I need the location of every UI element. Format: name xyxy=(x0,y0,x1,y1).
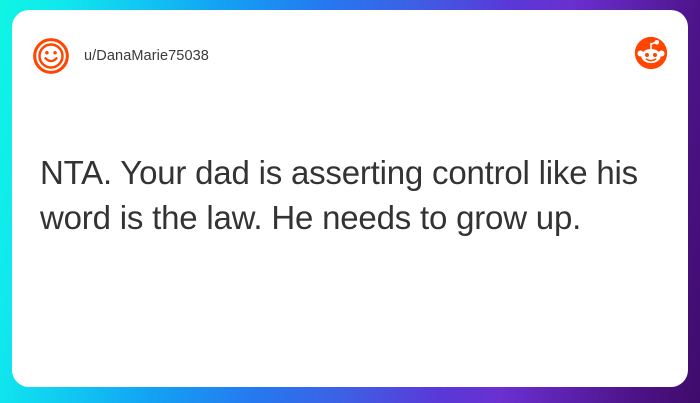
post-body-text: NTA. Your dad is asserting control like … xyxy=(40,150,660,240)
username-label: u/DanaMarie75038 xyxy=(84,48,209,64)
screenshot-root: u/DanaMarie75038 xyxy=(0,0,700,403)
reddit-snoo-icon xyxy=(634,36,668,70)
reddit-post-card: u/DanaMarie75038 xyxy=(12,10,688,387)
post-header: u/DanaMarie75038 xyxy=(12,10,688,102)
smiley-face-icon xyxy=(32,37,70,75)
